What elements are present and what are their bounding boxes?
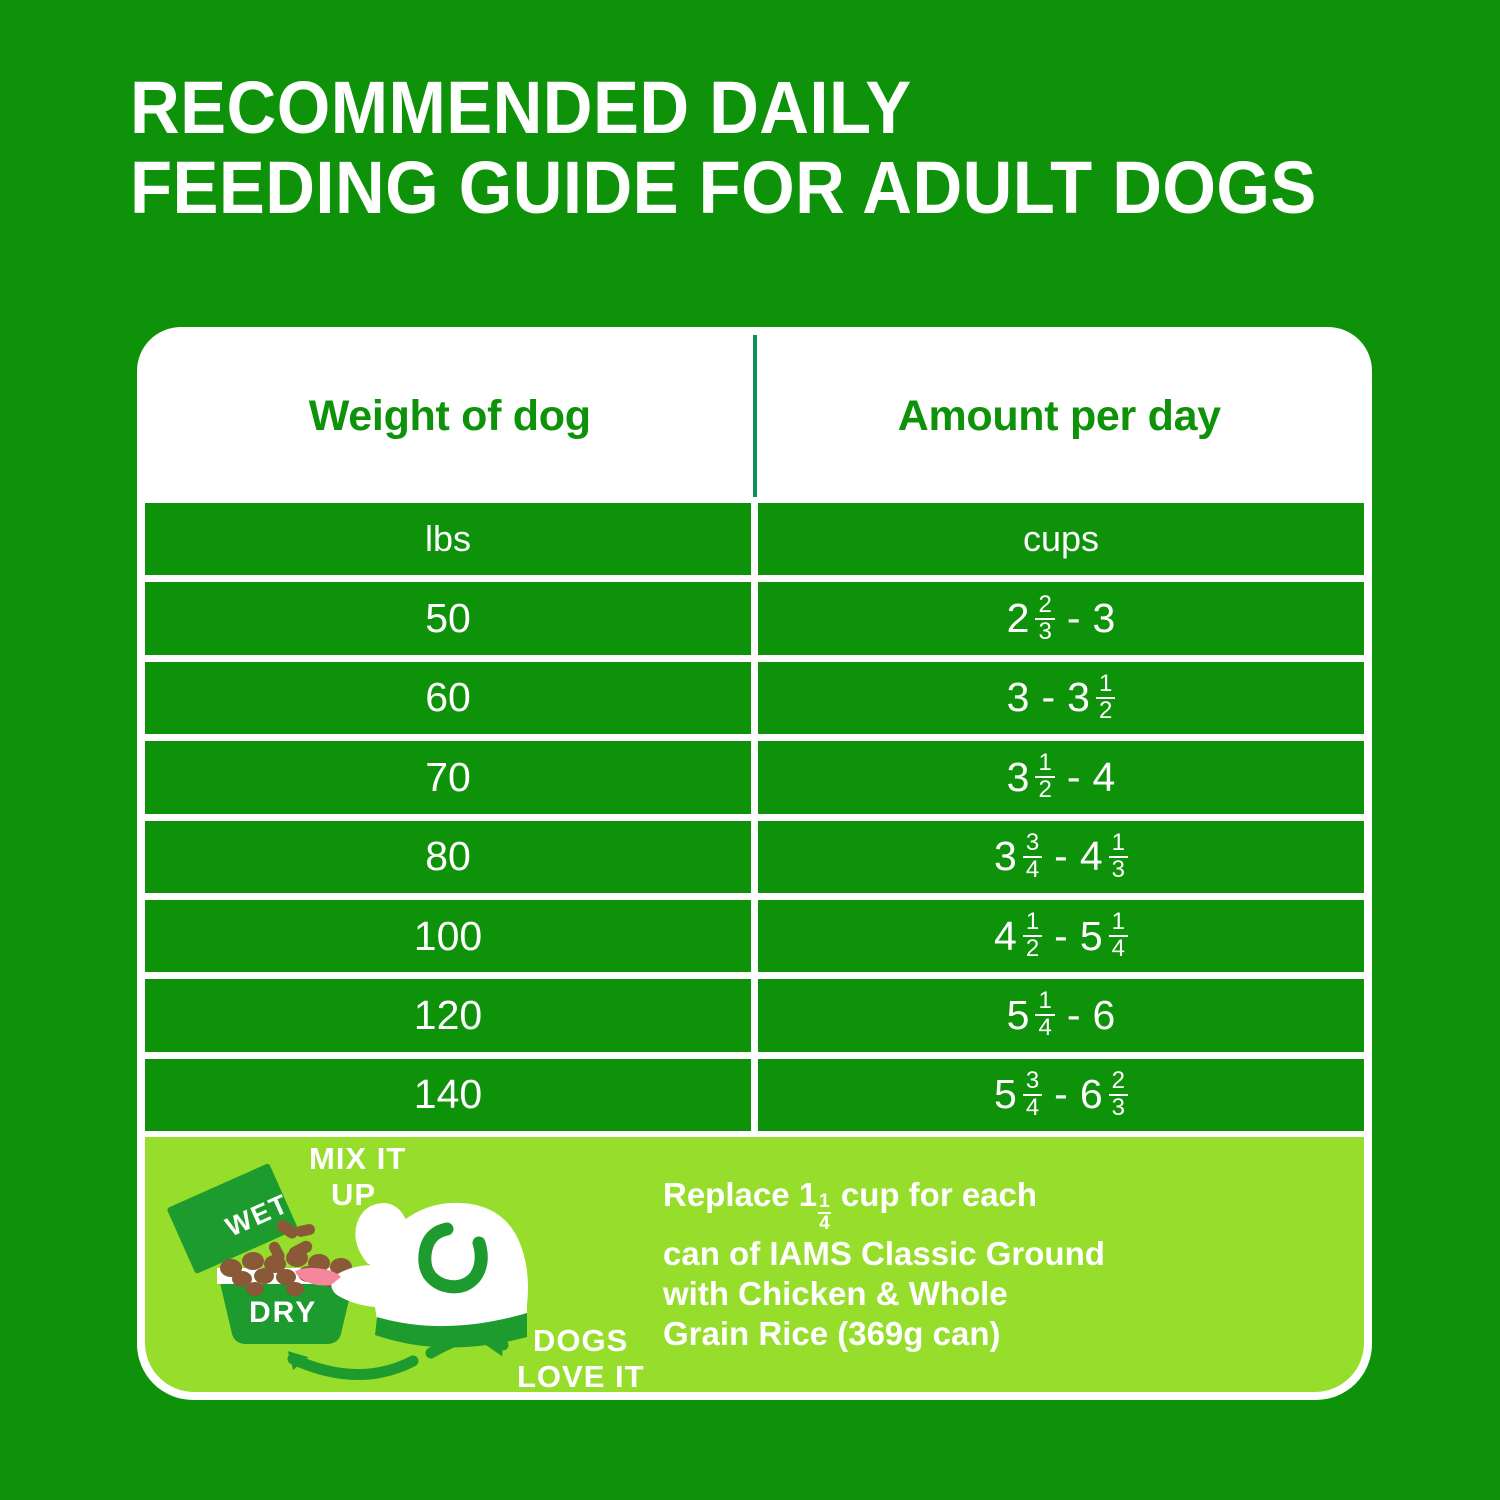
range-dash: - [1038,677,1058,718]
svg-text:MIX IT: MIX IT [309,1141,406,1176]
amount-whole: 4 [1080,836,1103,877]
amount-whole: 5 [1007,995,1030,1036]
amount-cell: 334-413 [758,821,1364,893]
footer-banner: MIX IT UP WET DRY DOGS LOVE IT Replace 1… [145,1137,1364,1392]
amount-fraction: 12 [1023,910,1042,962]
amount-cell: 223-3 [758,582,1364,654]
table-row: 80334-413 [145,821,1364,893]
range-dash: - [1051,1074,1071,1115]
amount-whole: 4 [994,916,1017,957]
weight-cell: 120 [145,979,751,1051]
amount-fraction: 13 [1109,831,1128,883]
weight-cell: 70 [145,741,751,813]
amount-fraction: 23 [1035,593,1054,645]
footer-note-line-3: with Chicken & Whole [663,1274,1338,1314]
svg-text:UP: UP [331,1177,376,1212]
amount-whole: 6 [1080,1074,1103,1115]
table-row: 50223-3 [145,582,1364,654]
table-row: 603-312 [145,662,1364,734]
amount-whole: 6 [1093,995,1116,1036]
amount-cell: 312-4 [758,741,1364,813]
table-header: Weight of dog Amount per day [145,335,1364,497]
footer-fraction: 14 [818,1192,831,1233]
weight-cell: 50 [145,582,751,654]
weight-cell: 60 [145,662,751,734]
header-column-divider [753,335,757,497]
table-row-units: lbs cups [145,503,1364,575]
range-dash: - [1064,757,1084,798]
amount-whole: 3 [1007,757,1030,798]
page-title-line-1: RECOMMENDED DAILY [130,68,1376,148]
amount-fraction: 23 [1109,1069,1128,1121]
amount-whole: 4 [1093,757,1116,798]
range-dash: - [1064,598,1084,639]
amount-whole: 3 [1093,598,1116,639]
amount-whole: 5 [994,1074,1017,1115]
amount-fraction: 12 [1096,672,1115,724]
table-row: 100412-514 [145,900,1364,972]
amount-cell: 3-312 [758,662,1364,734]
range-dash: - [1064,995,1084,1036]
svg-text:DOGS: DOGS [533,1323,628,1358]
footer-note-line-4: Grain Rice (369g can) [663,1314,1338,1354]
amount-whole: 3 [994,836,1017,877]
range-dash: - [1051,916,1071,957]
amount-whole: 5 [1080,916,1103,957]
column-header-amount: Amount per day [755,392,1365,441]
footer-note-text: Replace 114 cup for each can of IAMS Cla… [655,1175,1364,1353]
page-title-line-2: FEEDING GUIDE FOR ADULT DOGS [130,148,1376,228]
table-body: lbs cups 50223-3603-31270312-480334-4131… [145,497,1364,1131]
svg-text:DRY: DRY [249,1296,317,1329]
amount-fraction: 12 [1035,751,1054,803]
amount-cell: 412-514 [758,900,1364,972]
card-inner: Weight of dog Amount per day lbs cups 50… [145,335,1364,1392]
svg-text:LOVE IT: LOVE IT [517,1359,645,1392]
table-row: 140534-623 [145,1059,1364,1131]
page-title: RECOMMENDED DAILY FEEDING GUIDE FOR ADUL… [130,68,1470,228]
unit-cell-weight: lbs [145,503,751,575]
amount-cell: 534-623 [758,1059,1364,1131]
footer-note-line-1: Replace 114 cup for each [663,1175,1338,1233]
amount-fraction: 34 [1023,831,1042,883]
amount-cell: 514-6 [758,979,1364,1051]
amount-whole: 3 [1067,677,1090,718]
weight-cell: 80 [145,821,751,893]
feeding-guide-card: Weight of dog Amount per day lbs cups 50… [137,327,1372,1400]
footer-note-line-2: can of IAMS Classic Ground [663,1234,1338,1274]
table-row: 70312-4 [145,741,1364,813]
column-header-weight: Weight of dog [145,392,755,441]
range-dash: - [1051,836,1071,877]
weight-cell: 140 [145,1059,751,1131]
weight-cell: 100 [145,900,751,972]
amount-whole: 3 [1007,677,1030,718]
unit-cell-amount: cups [758,503,1364,575]
amount-whole: 2 [1007,598,1030,639]
amount-fraction: 34 [1023,1069,1042,1121]
amount-fraction: 14 [1035,989,1054,1041]
amount-fraction: 14 [1109,910,1128,962]
mix-it-up-illustration: MIX IT UP WET DRY DOGS LOVE IT [145,1137,655,1392]
table-row: 120514-6 [145,979,1364,1051]
